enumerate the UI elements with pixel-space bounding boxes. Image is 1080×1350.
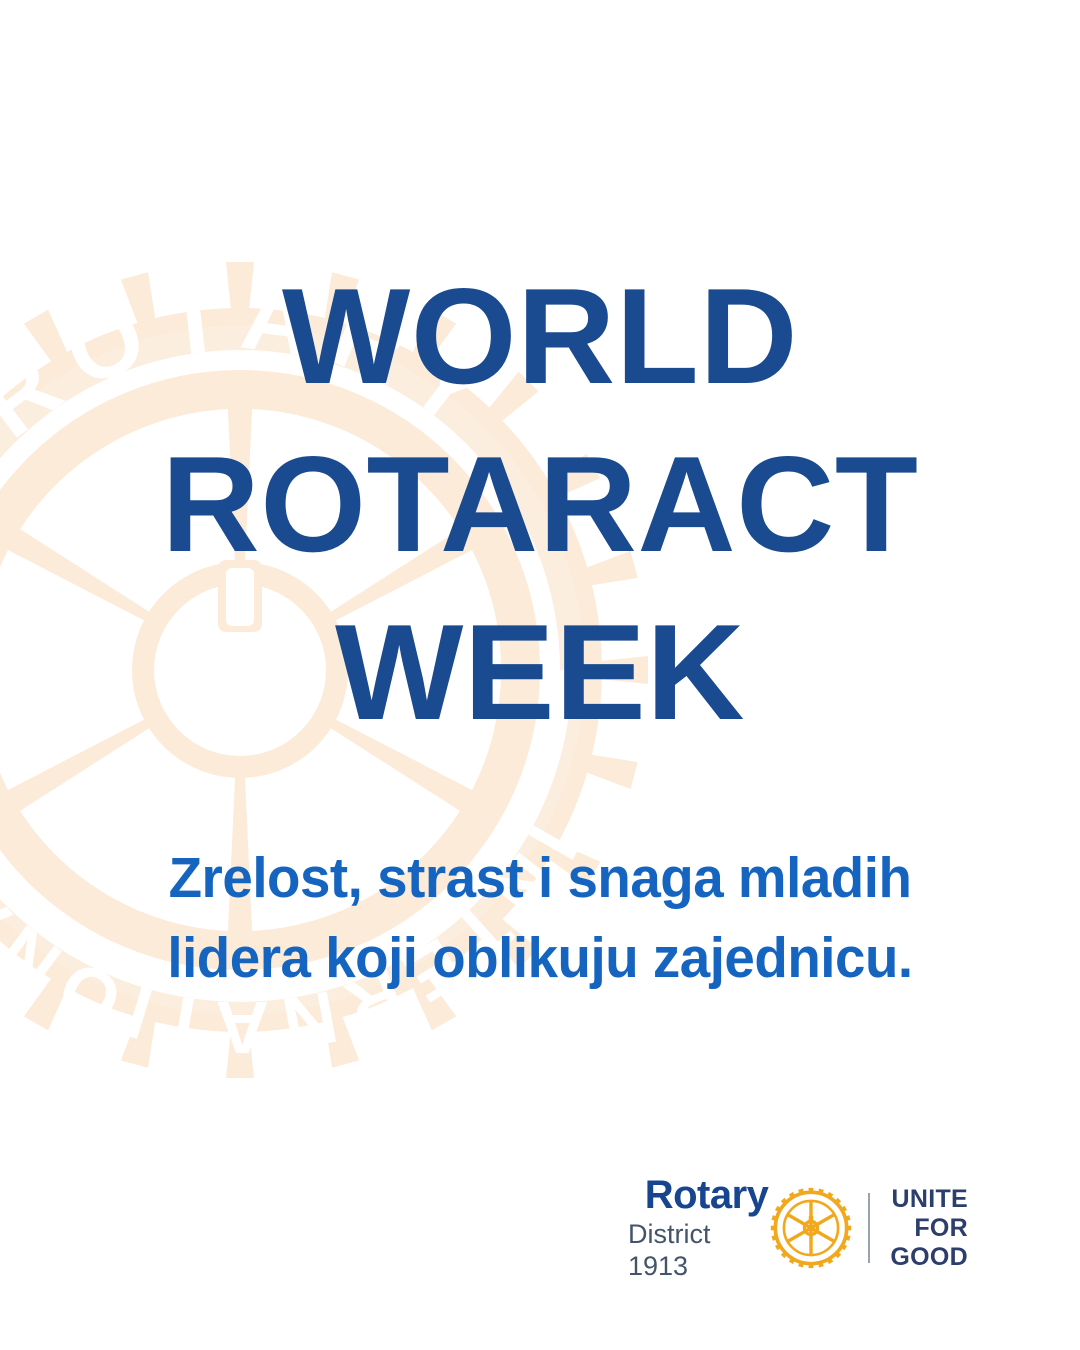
headline-line-2: ROTARACT xyxy=(0,420,1080,588)
district-label: District 1913 xyxy=(628,1218,768,1282)
subtitle: Zrelost, strast i snaga mladih lidera ko… xyxy=(0,838,1080,998)
tagline-line-1: UNITE xyxy=(892,1185,969,1214)
tagline-line-3: GOOD xyxy=(890,1243,968,1272)
headline-line-3: WEEK xyxy=(0,588,1080,756)
page-title: WORLD ROTARACT WEEK xyxy=(0,252,1080,756)
headline-line-1: WORLD xyxy=(0,252,1080,420)
poster-canvas: ROTARY INTERNATIONAL WORLD ROTARACT WEEK… xyxy=(0,0,1080,1350)
unite-for-good-tagline: UNITE FOR GOOD xyxy=(890,1185,968,1272)
logo-divider xyxy=(868,1193,870,1263)
wheel-spokes xyxy=(788,1201,835,1255)
rotary-district-logo: Rotary District 1913 xyxy=(628,1182,968,1274)
tagline-line-2: FOR xyxy=(914,1214,968,1243)
rotary-wordmark: Rotary District 1913 xyxy=(628,1174,772,1282)
rotary-wheel-icon xyxy=(770,1187,852,1269)
subtitle-line-2: lidera koji oblikuju zajednicu. xyxy=(22,918,1059,998)
wheel-keyway xyxy=(809,1216,814,1224)
subtitle-line-1: Zrelost, strast i snaga mladih xyxy=(22,838,1059,918)
brand-name: Rotary xyxy=(645,1174,769,1216)
